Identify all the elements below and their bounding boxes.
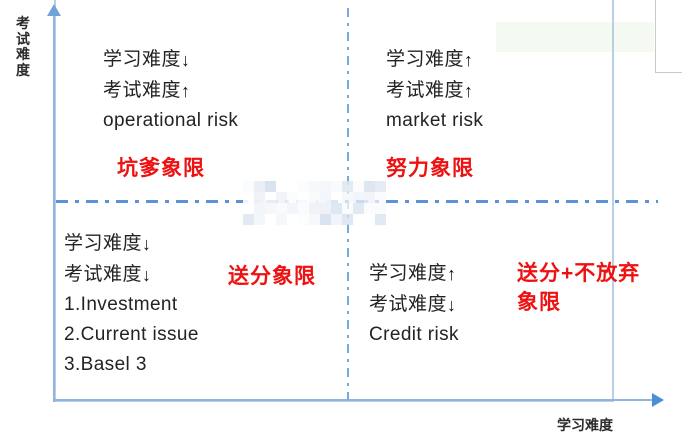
bl-list-item-2: 2.Current issue: [64, 320, 199, 350]
quadrant-bottom-left-text: 学习难度↓ 考试难度↓ 1.Investment 2.Current issue…: [64, 228, 199, 380]
bl-line2-arrow-icon: ↓: [142, 260, 151, 290]
quadrant-top-right-tag: 努力象限: [386, 154, 474, 183]
tl-line2-arrow-icon: ↑: [181, 76, 190, 106]
x-axis-title: 学习难度: [557, 415, 613, 435]
tl-line1-arrow-icon: ↓: [181, 45, 190, 75]
br-line1-label: 学习难度: [369, 263, 447, 284]
quadrant-top-right-text: 学习难度↑ 考试难度↑ market risk: [386, 44, 483, 136]
tr-line2-label: 考试难度: [386, 80, 464, 101]
y-axis-arrowhead-icon: [47, 4, 61, 16]
bl-list-item-1: 1.Investment: [64, 290, 199, 320]
quadrant-top-left-text: 学习难度↓ 考试难度↑ operational risk: [103, 44, 238, 136]
tr-line2-arrow-icon: ↑: [464, 76, 473, 106]
x-axis-arrowhead-icon: [652, 393, 664, 407]
bl-line1-label: 学习难度: [64, 233, 142, 254]
tr-line1-label: 学习难度: [386, 49, 464, 70]
y-axis-line: [53, 12, 55, 402]
bl-line2-label: 考试难度: [64, 264, 142, 285]
tl-risk-type: operational risk: [103, 106, 238, 136]
tl-line-1: 学习难度↓: [103, 44, 238, 75]
quadrant-bottom-right-tag: 送分+不放弃 象限: [517, 259, 640, 317]
br-line2-label: 考试难度: [369, 294, 447, 315]
quadrant-bottom-right-text: 学习难度↑ 考试难度↓ Credit risk: [369, 258, 459, 350]
br-line-1: 学习难度↑: [369, 258, 459, 289]
tr-line1-arrow-icon: ↑: [464, 45, 473, 75]
vertical-divider-dashed: [347, 8, 349, 400]
bl-line-2: 考试难度↓: [64, 259, 199, 290]
tr-risk-type: market risk: [386, 106, 483, 136]
tl-line2-label: 考试难度: [103, 80, 181, 101]
br-line1-arrow-icon: ↑: [447, 259, 456, 289]
bl-line-1: 学习难度↓: [64, 228, 199, 259]
quadrant-matrix-figure: 考试难度 学习难度 学习难度↓ 考试难度↑ operational risk 坑…: [0, 0, 690, 445]
tl-line-2: 考试难度↑: [103, 75, 238, 106]
bl-list-item-3: 3.Basel 3: [64, 350, 199, 380]
br-tag-line-1: 送分+不放弃: [517, 259, 640, 288]
br-line2-arrow-icon: ↓: [447, 290, 456, 320]
tl-line1-label: 学习难度: [103, 49, 181, 70]
quadrant-bottom-left-tag: 送分象限: [228, 262, 316, 291]
tr-line-1: 学习难度↑: [386, 44, 483, 75]
tr-line-2: 考试难度↑: [386, 75, 483, 106]
x-axis-line: [54, 399, 656, 401]
br-tag-line-2: 象限: [517, 288, 640, 317]
y-axis-title: 考试难度: [12, 16, 34, 79]
horizontal-divider-dashed: [56, 200, 658, 203]
slide-corner-bracket: [655, 0, 682, 73]
bl-line1-arrow-icon: ↓: [142, 229, 151, 259]
quadrant-top-left-tag: 坑爹象限: [117, 154, 205, 183]
br-risk-type: Credit risk: [369, 320, 459, 350]
br-line-2: 考试难度↓: [369, 289, 459, 320]
